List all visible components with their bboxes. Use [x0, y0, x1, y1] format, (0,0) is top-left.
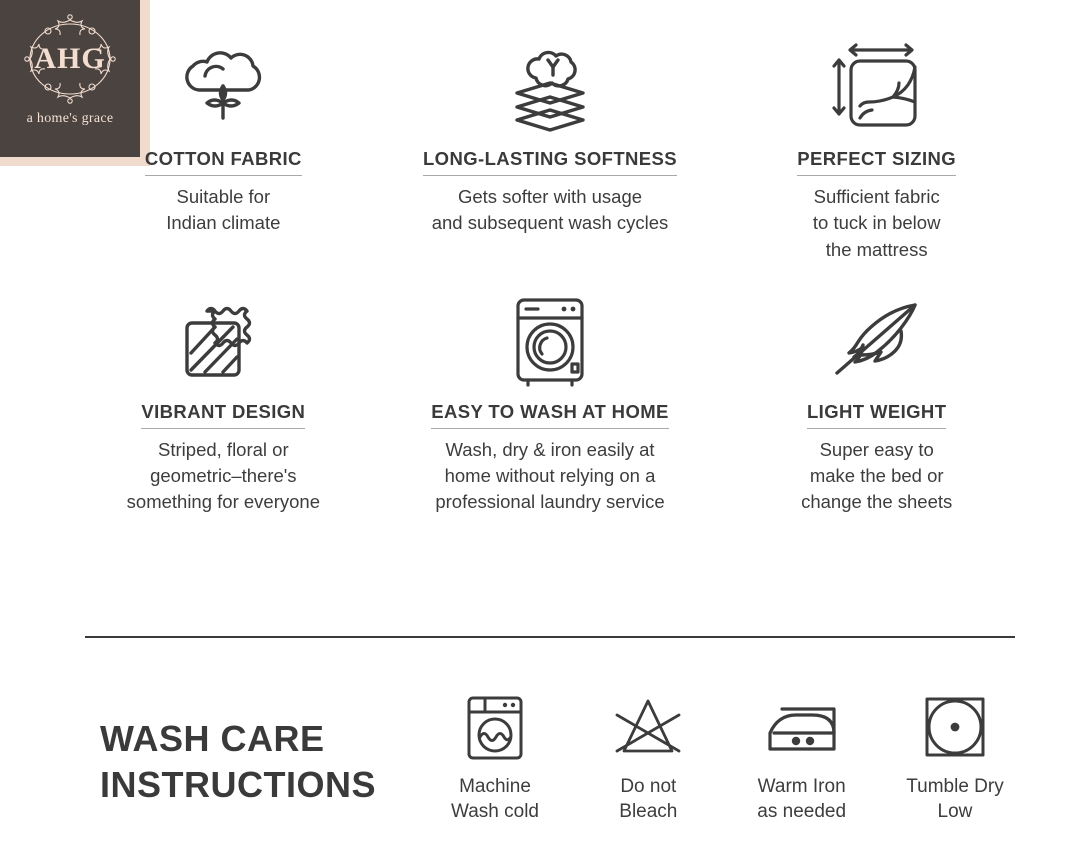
feature-description: Super easy to make the bed or change the… [801, 437, 952, 516]
feature-desc-line: make the bed or [801, 463, 952, 489]
feature-vibrant-design: VIBRANT DESIGN Striped, floral or geomet… [60, 281, 387, 516]
machine-wash-cold-icon [463, 690, 527, 766]
wash-care-title: WASH CARE INSTRUCTIONS [60, 690, 420, 808]
wash-care-label-line: Low [906, 799, 1003, 824]
feature-title: EASY TO WASH AT HOME [431, 401, 669, 429]
cotton-boll-icon [175, 28, 271, 148]
feature-description: Wash, dry & iron easily at home without … [435, 437, 664, 516]
feature-description: Suitable for Indian climate [166, 184, 280, 237]
washing-machine-icon [506, 281, 594, 401]
wash-care-label: Tumble Dry Low [906, 774, 1003, 825]
feature-desc-line: professional laundry service [435, 489, 664, 515]
feature-desc-line: geometric–there's [127, 463, 320, 489]
feature-description: Sufficient fabric to tuck in below the m… [813, 184, 941, 263]
feature-desc-line: home without relying on a [435, 463, 664, 489]
feature-title: LIGHT WEIGHT [807, 401, 946, 429]
tumble-dry-low-icon [921, 690, 989, 766]
section-divider [85, 636, 1015, 638]
feature-title: LONG-LASTING SOFTNESS [423, 148, 677, 176]
feature-description: Striped, floral or geometric–there's som… [127, 437, 320, 516]
feature-desc-line: change the sheets [801, 489, 952, 515]
mattress-dimensions-icon [825, 28, 929, 148]
wash-care-label-line: Machine [451, 774, 539, 799]
cotton-on-fabric-layers-icon [495, 28, 605, 148]
wash-care-item-do-not-bleach: Do not Bleach [573, 690, 723, 825]
feature-row-1: COTTON FABRIC Suitable for Indian climat… [60, 28, 1040, 263]
feature-desc-line: something for everyone [127, 489, 320, 515]
warm-iron-icon [760, 690, 844, 766]
wash-care-label-line: Bleach [619, 799, 677, 824]
brand-monogram: AHG [34, 44, 105, 74]
feather-icon [823, 281, 931, 401]
feature-cotton-fabric: COTTON FABRIC Suitable for Indian climat… [60, 28, 387, 263]
wash-care-label-line: Tumble Dry [906, 774, 1003, 799]
feature-desc-line: Gets softer with usage [432, 184, 669, 210]
wash-care-label-line: Wash cold [451, 799, 539, 824]
wash-care-label-line: Do not [619, 774, 677, 799]
wash-care-label: Do not Bleach [619, 774, 677, 825]
wash-care-symbols: Machine Wash cold Do not Bleach [420, 690, 1050, 825]
feature-desc-line: Sufficient fabric [813, 184, 941, 210]
feature-long-lasting-softness: LONG-LASTING SOFTNESS Gets softer with u… [387, 28, 714, 263]
wash-care-section: WASH CARE INSTRUCTIONS Machine Wash cold [60, 690, 1050, 825]
feature-desc-line: Striped, floral or [127, 437, 320, 463]
feature-row-2: VIBRANT DESIGN Striped, floral or geomet… [60, 281, 1040, 516]
feature-grid: COTTON FABRIC Suitable for Indian climat… [60, 28, 1040, 516]
feature-description: Gets softer with usage and subsequent wa… [432, 184, 669, 237]
wash-care-label-line: Warm Iron [757, 774, 846, 799]
feature-title: PERFECT SIZING [797, 148, 956, 176]
feature-desc-line: Wash, dry & iron easily at [435, 437, 664, 463]
wash-care-item-warm-iron: Warm Iron as needed [727, 690, 877, 825]
feature-title: VIBRANT DESIGN [141, 401, 305, 429]
feature-perfect-sizing: PERFECT SIZING Sufficient fabric to tuck… [713, 28, 1040, 263]
feature-desc-line: Suitable for [166, 184, 280, 210]
feature-light-weight: LIGHT WEIGHT Super easy to make the bed … [713, 281, 1040, 516]
feature-desc-line: and subsequent wash cycles [432, 210, 669, 236]
wash-care-title-line: WASH CARE [100, 716, 420, 762]
feature-easy-to-wash: EASY TO WASH AT HOME Wash, dry & iron ea… [387, 281, 714, 516]
feature-desc-line: Indian climate [166, 210, 280, 236]
feature-title: COTTON FABRIC [145, 148, 302, 176]
wash-care-item-tumble-dry-low: Tumble Dry Low [880, 690, 1030, 825]
feature-desc-line: to tuck in below [813, 210, 941, 236]
feature-desc-line: the mattress [813, 237, 941, 263]
wash-care-label: Machine Wash cold [451, 774, 539, 825]
wash-care-label-line: as needed [757, 799, 846, 824]
wash-care-item-machine-wash-cold: Machine Wash cold [420, 690, 570, 825]
feature-desc-line: Super easy to [801, 437, 952, 463]
do-not-bleach-icon [609, 690, 687, 766]
fabric-swatches-icon [173, 281, 273, 401]
wash-care-title-line: INSTRUCTIONS [100, 762, 420, 808]
wash-care-label: Warm Iron as needed [757, 774, 846, 825]
